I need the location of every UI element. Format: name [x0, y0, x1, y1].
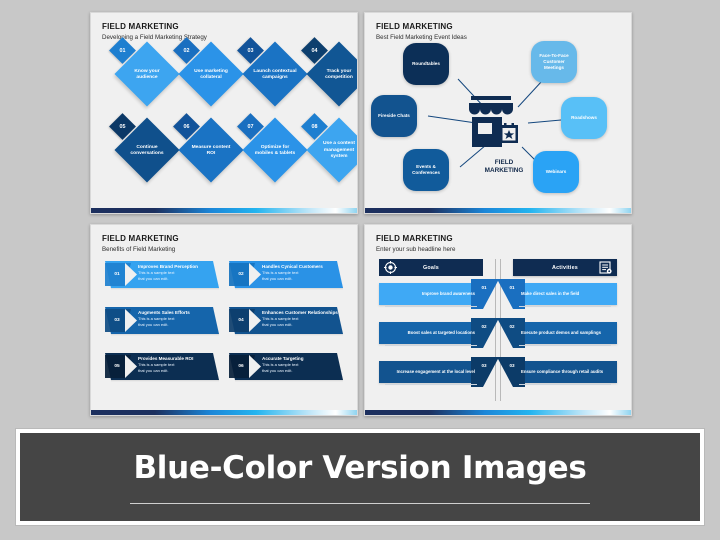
- row-underline: [385, 384, 477, 385]
- page-title: FIELD MARKETING: [376, 22, 620, 32]
- row-underline: [519, 384, 611, 385]
- target-icon: [384, 261, 397, 274]
- hub-node: Fireside Chats: [371, 95, 417, 137]
- banner-text: Handles Cynical CustomersThis is a sampl…: [262, 264, 338, 281]
- activities-header: Activities: [513, 259, 617, 276]
- row-number: 02: [471, 320, 497, 332]
- banner-body-line2: that you can edit.: [138, 368, 214, 373]
- banner-heading: Handles Cynical Customers: [262, 264, 338, 270]
- benefit-banner: 06Accurate TargetingThis is a sample tex…: [229, 353, 343, 384]
- checklist-gear-icon: [599, 261, 612, 274]
- hub-node: Face-To-Face Customer Meetings: [531, 41, 577, 83]
- diamond-label: Optimize for mobiles & tablets: [245, 129, 305, 173]
- diamond-label: Use marketing collateral: [181, 53, 241, 97]
- banner-body-line2: that you can edit.: [138, 276, 214, 281]
- banner-text: Augments Sales EffortsThis is a sample t…: [138, 310, 214, 327]
- hub-and-spoke-diagram: FIELD MARKETING RoundtablesFace-To-Face …: [365, 41, 631, 209]
- banner-body-line2: that you can edit.: [138, 322, 214, 327]
- diamond-item: 05Continue conversations: [113, 123, 177, 187]
- diamond-item: 03Launch contextual campaigns: [241, 47, 305, 111]
- row-number: 02: [499, 320, 525, 332]
- storefront-icon: [463, 95, 519, 155]
- diamond-label: Continue conversations: [117, 129, 177, 173]
- goal-row: Improve brand awareness01: [379, 283, 483, 310]
- footer-wave: [91, 208, 357, 213]
- row-number: 03: [471, 359, 497, 371]
- row-label: Increase engagement at the local level: [379, 361, 483, 383]
- diamond-label: Track your competition: [309, 53, 358, 97]
- page-subtitle: Enter your sub headline here: [376, 245, 620, 254]
- diamond-grid: 01Know your audience02Use marketing coll…: [91, 43, 357, 203]
- diamond-item: 02Use marketing collateral: [177, 47, 241, 111]
- page-title: FIELD MARKETING: [376, 234, 620, 244]
- benefit-banner: 04Enhances Customer RelationshipsThis is…: [229, 307, 343, 338]
- banner-text: Provides Measurable ROIThis is a sample …: [138, 356, 214, 373]
- row-label: Execute product demos and samplings: [513, 322, 617, 344]
- footer-wave: [365, 208, 631, 213]
- benefit-banner: 02Handles Cynical CustomersThis is a sam…: [229, 261, 343, 292]
- banner-number: 01: [106, 263, 128, 286]
- banner-heading: Provides Measurable ROI: [138, 356, 214, 362]
- diamond-label: Know your audience: [117, 53, 177, 97]
- slide-thumbnail-goals-activities[interactable]: FIELD MARKETING Enter your sub headline …: [364, 224, 632, 416]
- goals-header: Goals: [379, 259, 483, 276]
- banner-body-line2: that you can edit.: [262, 368, 338, 373]
- benefit-banner-grid: 01Improves Brand PerceptionThis is a sam…: [105, 261, 343, 401]
- page-title: FIELD MARKETING: [102, 234, 346, 244]
- goals-activities-diagram: Goals Activities Improve brand awa: [379, 259, 617, 401]
- activity-row: Ensure compliance through retail audits0…: [513, 361, 617, 388]
- banner-heading: Improves Brand Perception: [138, 264, 214, 270]
- banner-text: Enhances Customer RelationshipsThis is a…: [262, 310, 338, 327]
- diamond-label: Use a content management system: [309, 129, 358, 173]
- caption-divider: [130, 503, 590, 504]
- banner-text: Accurate TargetingThis is a sample textt…: [262, 356, 338, 373]
- banner-heading: Enhances Customer Relationships: [262, 310, 338, 316]
- caption-banner: Blue-Color Version Images: [15, 428, 705, 526]
- benefit-banner: 01Improves Brand PerceptionThis is a sam…: [105, 261, 219, 292]
- banner-text: Improves Brand PerceptionThis is a sampl…: [138, 264, 214, 281]
- benefit-banner: 03Augments Sales EffortsThis is a sample…: [105, 307, 219, 338]
- goals-header-label: Goals: [397, 265, 465, 271]
- row-underline: [385, 306, 477, 307]
- goal-row: Increase engagement at the local level03: [379, 361, 483, 388]
- benefit-banner: 05Provides Measurable ROIThis is a sampl…: [105, 353, 219, 384]
- footer-wave: [91, 410, 357, 415]
- hub-node: Roadshows: [561, 97, 607, 139]
- row-number: 01: [499, 281, 525, 293]
- banner-heading: Augments Sales Efforts: [138, 310, 214, 316]
- slide-thumbnail-strategy[interactable]: FIELD MARKETING Developing a Field Marke…: [90, 12, 358, 214]
- row-number: 01: [471, 281, 497, 293]
- slide-thumbnail-event-ideas[interactable]: FIELD MARKETING Best Field Marketing Eve…: [364, 12, 632, 214]
- banner-number: 05: [106, 355, 128, 378]
- diamond-label: Measure content ROI: [181, 129, 241, 173]
- diamond-item: 04Track your competition: [305, 47, 358, 111]
- footer-wave: [365, 410, 631, 415]
- banner-body-line2: that you can edit.: [262, 322, 338, 327]
- activity-row: Execute product demos and samplings02: [513, 322, 617, 349]
- diamond-item: 06Measure content ROI: [177, 123, 241, 187]
- row-label: Improve brand awareness: [379, 283, 483, 305]
- activities-header-label: Activities: [531, 265, 599, 271]
- caption-text: Blue-Color Version Images: [133, 450, 586, 486]
- row-label: Make direct sales in the field: [513, 283, 617, 305]
- banner-number: 03: [106, 309, 128, 332]
- row-underline: [385, 345, 477, 346]
- row-label: Ensure compliance through retail audits: [513, 361, 617, 383]
- slide-gallery: FIELD MARKETING Developing a Field Marke…: [0, 0, 720, 540]
- row-number: 03: [499, 359, 525, 371]
- diamond-label: Launch contextual campaigns: [245, 53, 305, 97]
- banner-heading: Accurate Targeting: [262, 356, 338, 362]
- row-underline: [519, 345, 611, 346]
- goal-row: Boost sales at targeted locations02: [379, 322, 483, 349]
- hub-node: Webinars: [533, 151, 579, 193]
- row-underline: [519, 306, 611, 307]
- hub-node: Events & Conferences: [403, 149, 449, 191]
- hub-node: Roundtables: [403, 43, 449, 85]
- banner-number: 02: [230, 263, 252, 286]
- diamond-item: 08Use a content management system: [305, 123, 358, 187]
- banner-body-line2: that you can edit.: [262, 276, 338, 281]
- row-label: Boost sales at targeted locations: [379, 322, 483, 344]
- page-subtitle: Benefits of Field Marketing: [102, 245, 346, 254]
- banner-number: 06: [230, 355, 252, 378]
- banner-number: 04: [230, 309, 252, 332]
- diamond-item: 01Know your audience: [113, 47, 177, 111]
- diamond-item: 07Optimize for mobiles & tablets: [241, 123, 305, 187]
- page-title: FIELD MARKETING: [102, 22, 346, 32]
- slide-thumbnail-benefits[interactable]: FIELD MARKETING Benefits of Field Market…: [90, 224, 358, 416]
- activity-row: Make direct sales in the field01: [513, 283, 617, 310]
